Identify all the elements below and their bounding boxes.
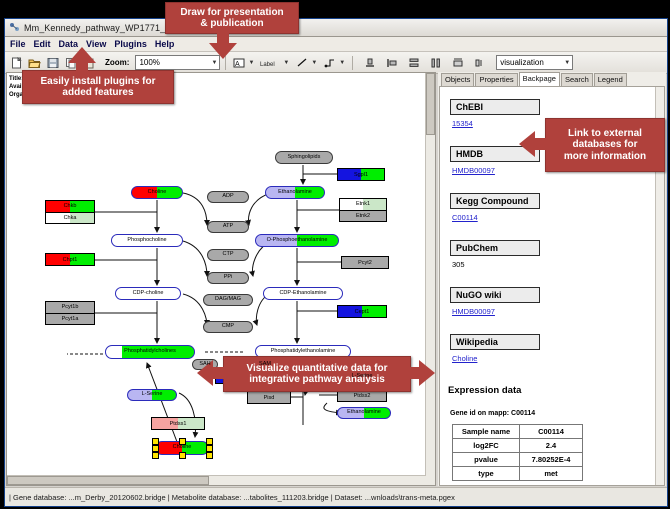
gene-label-row: Etnk1: [340, 199, 386, 210]
label-tool-icon[interactable]: Label: [259, 55, 281, 70]
db-link-nugo-wiki[interactable]: HMDB00097: [452, 307, 495, 316]
gene-node-sgpl1[interactable]: Sgpl1: [337, 168, 385, 181]
zoom-combobox[interactable]: 100% ▼: [135, 55, 220, 70]
tab-label: Objects: [445, 75, 470, 84]
tab-label: Properties: [479, 75, 513, 84]
distribute-vertical-icon[interactable]: [406, 55, 421, 70]
db-header-kegg-compound: Kegg Compound: [450, 193, 540, 209]
screenshot-root: Mm_Kennedy_pathway_WP1771_45176.gpml Fil…: [0, 0, 670, 509]
visualization-value: visualization: [500, 58, 544, 67]
gene-label-row: Etnk2: [340, 210, 386, 222]
metabolite-node-cdp-ethanolamine[interactable]: CDP-Ethanolamine: [263, 287, 343, 300]
expression-row: log2FC2.4: [453, 439, 583, 453]
line-tool-icon[interactable]: [294, 55, 309, 70]
tab-backpage[interactable]: Backpage: [519, 72, 560, 86]
connector-tool-icon[interactable]: [322, 55, 337, 70]
metabolite-node-ppi[interactable]: PPi: [207, 272, 249, 284]
gene-label-row: Pcyt1b: [46, 302, 94, 313]
scroll-thumb-vertical[interactable]: [426, 73, 435, 135]
node-label: CDP-choline: [133, 291, 164, 297]
expression-row: Sample nameC00114: [453, 425, 583, 439]
gene-label-row: Chka: [46, 212, 94, 224]
selection-handle-0[interactable]: [152, 438, 159, 445]
svg-text:Label: Label: [260, 62, 275, 68]
node-label: Phosphatidylcholines: [124, 349, 176, 355]
gene-label-row: Ptdss1: [152, 418, 204, 429]
gene-label-row: Cept1: [338, 306, 386, 317]
metabolite-node-cmp[interactable]: CMP: [203, 321, 253, 333]
gene-node-cept1[interactable]: Cept1: [337, 305, 387, 318]
svg-text:A: A: [235, 61, 240, 68]
expression-key: log2FC: [453, 439, 520, 453]
node-label: Pcyt1a: [62, 316, 79, 322]
line-dropdown-icon[interactable]: ▼: [311, 60, 317, 66]
tab-label: Backpage: [523, 74, 556, 83]
expression-value: met: [520, 467, 583, 481]
db-link-chebi[interactable]: 15354: [452, 119, 473, 128]
expression-value: 2.4: [520, 439, 583, 453]
node-label: L-Serine: [142, 392, 163, 398]
expression-key: pvalue: [453, 453, 520, 467]
node-label: O-Phosphoethanolamine: [267, 238, 328, 244]
app-icon: [9, 22, 20, 33]
db-link-wikipedia[interactable]: Choline: [452, 354, 477, 363]
save-icon[interactable]: [45, 55, 60, 70]
callout-draw-arrow: [209, 43, 237, 59]
node-label: CDP-Ethanolamine: [279, 291, 326, 297]
metabolite-node-phosphatidylcholines[interactable]: Phosphatidylcholines: [105, 345, 195, 359]
node-label: ATP: [223, 224, 233, 230]
tab-objects[interactable]: Objects: [441, 73, 474, 86]
metabolite-node-l-serine-left[interactable]: L-Serine: [127, 389, 177, 401]
db-header-label: ChEBI: [456, 102, 483, 112]
gene-node-pcyt2[interactable]: Pcyt2: [341, 256, 389, 269]
node-label: Cept1: [355, 309, 370, 315]
node-label: Pisd: [264, 395, 275, 401]
expression-key: Sample name: [453, 425, 520, 439]
node-label: Pcyt1b: [62, 304, 79, 310]
menu-item-help[interactable]: Help: [155, 39, 175, 49]
metabolite-node-adp[interactable]: ADP: [207, 191, 249, 203]
toolbar-separator-2: [352, 56, 353, 70]
metabolite-node-ethanolamine-top[interactable]: Ethanolamine: [265, 186, 325, 199]
zoom-value: 100%: [139, 58, 159, 67]
db-header-label: HMDB: [456, 149, 483, 159]
callout-visualize-stem-left: [212, 367, 224, 379]
gene-node-ptdss1[interactable]: Ptdss1: [151, 417, 205, 430]
tab-search[interactable]: Search: [561, 73, 593, 86]
pathway-canvas[interactable]: Title: Availa Organi: [6, 72, 436, 486]
gene-label-row: Pcyt1a: [46, 313, 94, 325]
node-label: CMP: [222, 324, 234, 330]
node-label: ADP: [222, 194, 233, 200]
node-label: SAM: [259, 362, 271, 368]
menu-item-edit[interactable]: Edit: [34, 39, 51, 49]
menu-item-file[interactable]: File: [10, 39, 26, 49]
gene-node-pisd[interactable]: Pisd: [247, 391, 291, 404]
node-label: Chkb: [64, 203, 77, 209]
align-left-icon[interactable]: [384, 55, 399, 70]
selection-handle-6[interactable]: [179, 452, 186, 459]
node-label: L-Serine: [352, 374, 373, 380]
metabolite-node-atp[interactable]: ATP: [207, 221, 249, 233]
selection-handle-2[interactable]: [206, 438, 213, 445]
callout-draw: Draw for presentation& publication: [165, 2, 299, 34]
gene-node-chpt1[interactable]: Chpt1: [45, 253, 95, 266]
title-bar: Mm_Kennedy_pathway_WP1771_45176.gpml: [5, 19, 667, 37]
node-label: Ptdss1: [170, 421, 187, 427]
gene-id-line: Gene id on mapp: C00114: [450, 410, 535, 417]
selection-handle-5[interactable]: [152, 452, 159, 459]
node-label: SAH: [199, 362, 210, 368]
canvas-horizontal-scrollbar[interactable]: [7, 475, 426, 485]
db-link-kegg-compound[interactable]: C00114: [452, 213, 478, 222]
node-label: Phosphatidylethanolamine: [271, 349, 336, 355]
node-label: CTP: [223, 252, 234, 258]
metabolite-node-ethanolamine-bottom[interactable]: Ethanolamine: [337, 407, 391, 419]
new-file-icon[interactable]: [9, 55, 24, 70]
tab-properties[interactable]: Properties: [475, 73, 517, 86]
tab-label: Search: [565, 75, 589, 84]
scroll-thumb-horizontal[interactable]: [7, 476, 209, 485]
selection-handle-1[interactable]: [179, 438, 186, 445]
gene-label-row: Pisd: [248, 392, 290, 403]
gene-label-row: Sgpl1: [338, 169, 384, 180]
metabolite-node-cdp-choline[interactable]: CDP-choline: [115, 287, 181, 300]
open-folder-icon[interactable]: [27, 55, 42, 70]
node-label: Etnk1: [356, 201, 370, 207]
align-top-icon[interactable]: [362, 55, 377, 70]
db-header-nugo-wiki: NuGO wiki: [450, 287, 540, 303]
expression-data-heading: Expression data: [448, 385, 521, 396]
expression-row: typemet: [453, 467, 583, 481]
gene-label-row: Pcyt2: [342, 257, 388, 268]
node-label: Sgpl1: [354, 172, 368, 178]
gene-node-chkb[interactable]: ChkbChka: [45, 200, 95, 224]
node-label: Chka: [64, 215, 77, 221]
side-panel-tabs: ObjectsPropertiesBackpageSearchLegend: [438, 72, 666, 86]
node-label: Choline: [173, 445, 192, 451]
metabolite-node-dagmag[interactable]: DAG/MAG: [203, 294, 253, 306]
db-header-label: PubChem: [456, 243, 498, 253]
gene-label-row: Chpt1: [46, 254, 94, 265]
metabolite-node-choline-top[interactable]: Choline: [131, 186, 183, 199]
menu-item-plugins[interactable]: Plugins: [114, 39, 147, 49]
chevron-down-icon-vis[interactable]: ▼: [564, 60, 570, 66]
expression-table: Sample nameC00114log2FC2.4pvalue7.80252E…: [452, 424, 583, 481]
expression-value: 7.80252E-4: [520, 453, 583, 467]
callout-link-arrow: [519, 131, 535, 157]
db-header-label: NuGO wiki: [456, 290, 502, 300]
group-icon[interactable]: [450, 55, 465, 70]
tab-legend[interactable]: Legend: [594, 73, 627, 86]
expression-key: type: [453, 467, 520, 481]
db-header-pubchem: PubChem: [450, 240, 540, 256]
db-header-label: Wikipedia: [456, 337, 498, 347]
stack-icon[interactable]: [472, 55, 487, 70]
gene-node-etnk[interactable]: Etnk1Etnk2: [339, 198, 387, 222]
callout-link-stem: [534, 138, 546, 150]
status-bar-text: | Gene database: ...m_Derby_20120602.bri…: [9, 493, 455, 502]
expression-row: pvalue7.80252E-4: [453, 453, 583, 467]
db-value-pubchem: 305: [452, 260, 465, 269]
canvas-vertical-scrollbar[interactable]: [425, 73, 435, 485]
callout-visualize: Visualize quantitative data forintegrati…: [223, 356, 411, 392]
node-label: Phosphocholine: [127, 238, 166, 244]
text-label-dropdown-icon[interactable]: ▼: [248, 60, 254, 66]
visualization-combobox[interactable]: visualization ▼: [496, 55, 573, 70]
node-label: Choline: [148, 190, 167, 196]
chevron-down-icon[interactable]: ▼: [211, 60, 217, 66]
callout-plugins-arrow: [68, 47, 96, 63]
node-label: Ethanolamine: [347, 410, 381, 416]
db-header-label: Kegg Compound: [456, 196, 529, 206]
callout-plugins: Easily install plugins foradded features: [22, 70, 174, 104]
node-label: Ethanolamine: [278, 190, 312, 196]
db-header-wikipedia: Wikipedia: [450, 334, 540, 350]
metabolite-node-ctp[interactable]: CTP: [207, 249, 249, 261]
distribute-horizontal-icon[interactable]: [428, 55, 443, 70]
node-label: PPi: [224, 275, 233, 281]
selection-handle-7[interactable]: [206, 452, 213, 459]
node-label: Chpt1: [63, 257, 78, 263]
tab-label: Legend: [598, 75, 623, 84]
selection-handle-3[interactable]: [152, 445, 159, 452]
selection-handle-4[interactable]: [206, 445, 213, 452]
node-label: Ptdss2: [354, 393, 371, 399]
status-bar: | Gene database: ...m_Derby_20120602.bri…: [5, 487, 667, 506]
label-dropdown-icon[interactable]: ▼: [283, 60, 289, 66]
metabolite-node-sphingolipids[interactable]: Sphingolipids: [275, 151, 333, 164]
callout-link: Link to externaldatabases formore inform…: [545, 118, 665, 172]
node-label: Sphingolipids: [288, 155, 321, 161]
db-link-hmdb[interactable]: HMDB00097: [452, 166, 495, 175]
callout-visualize-arrow-right: [419, 360, 435, 386]
gene-node-pcyt1[interactable]: Pcyt1bPcyt1a: [45, 301, 95, 325]
node-label: Etnk2: [356, 213, 370, 219]
db-header-chebi: ChEBI: [450, 99, 540, 115]
zoom-label: Zoom:: [105, 58, 129, 67]
connector-dropdown-icon[interactable]: ▼: [339, 60, 345, 66]
menu-bar: File Edit Data View Plugins Help: [5, 37, 667, 52]
metabolite-node-phosphocholine[interactable]: Phosphocholine: [111, 234, 183, 247]
expression-value: C00114: [520, 425, 583, 439]
gene-label-row: Chkb: [46, 201, 94, 212]
node-label: Pcyt2: [358, 260, 372, 266]
node-label: DAG/MAG: [215, 297, 241, 303]
metabolite-node-ophosphoethanolamine[interactable]: O-Phosphoethanolamine: [255, 234, 339, 247]
